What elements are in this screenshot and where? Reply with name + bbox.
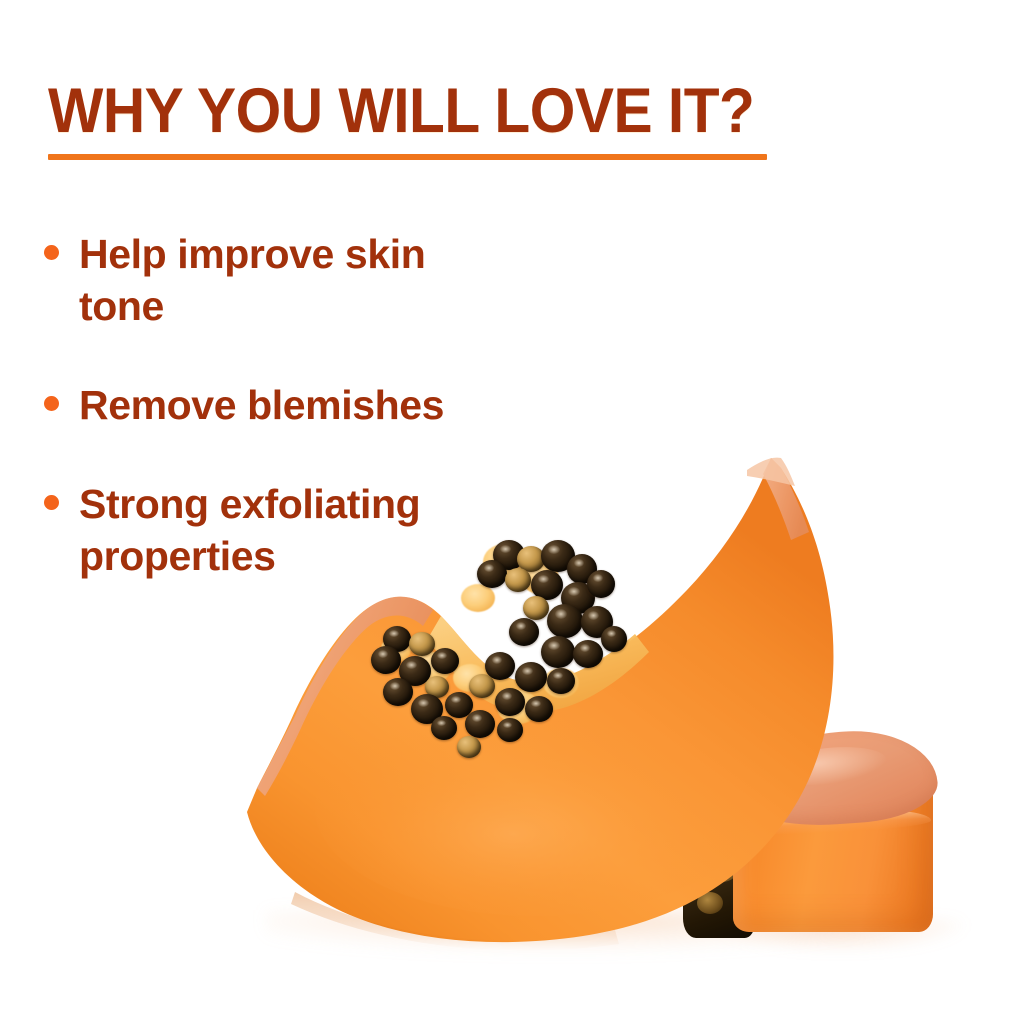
seed bbox=[509, 618, 539, 646]
papaya-seed-cluster bbox=[365, 540, 685, 770]
seed bbox=[431, 648, 459, 674]
bullet-dot-icon bbox=[44, 245, 59, 260]
seed bbox=[469, 674, 495, 698]
seed bbox=[587, 570, 615, 598]
pulp-blob bbox=[461, 584, 495, 612]
title-underline bbox=[48, 154, 767, 160]
seed bbox=[505, 568, 531, 592]
seed bbox=[497, 718, 523, 742]
list-item: Help improve skin tone bbox=[44, 228, 604, 332]
papaya-product-image bbox=[235, 440, 975, 1000]
seed bbox=[371, 646, 401, 674]
seed bbox=[547, 668, 575, 694]
seed bbox=[431, 716, 457, 740]
seed bbox=[523, 596, 549, 620]
benefit-label-1: Help improve skin tone bbox=[79, 228, 499, 332]
heading-block: WHY YOU WILL LOVE IT? bbox=[48, 78, 808, 160]
seed bbox=[477, 560, 507, 588]
seed bbox=[515, 662, 547, 692]
seed bbox=[547, 604, 583, 638]
seed bbox=[495, 688, 525, 716]
seed bbox=[541, 636, 575, 668]
page-title: WHY YOU WILL LOVE IT? bbox=[48, 78, 755, 144]
bullet-dot-icon bbox=[44, 495, 59, 510]
bullet-dot-icon bbox=[44, 396, 59, 411]
seed bbox=[601, 626, 627, 652]
seed bbox=[409, 632, 435, 656]
seed bbox=[457, 736, 481, 758]
promo-slide: WHY YOU WILL LOVE IT? Help improve skin … bbox=[0, 0, 1024, 1024]
seed bbox=[383, 678, 413, 706]
seed bbox=[465, 710, 495, 738]
list-item: Remove blemishes bbox=[44, 379, 604, 431]
seed bbox=[573, 640, 603, 668]
benefit-label-2: Remove blemishes bbox=[79, 379, 444, 431]
seed bbox=[525, 696, 553, 722]
